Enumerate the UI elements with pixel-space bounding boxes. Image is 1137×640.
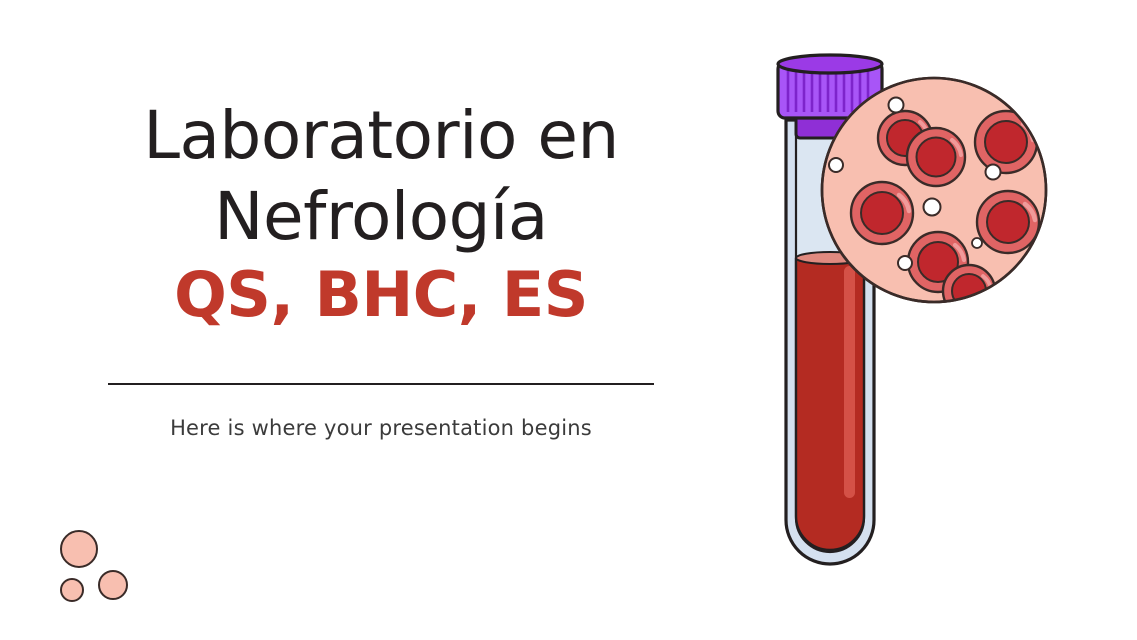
- platelet: [829, 158, 843, 172]
- red-blood-cell: [977, 191, 1039, 253]
- title-block: Laboratorio en Nefrología QS, BHC, ES: [108, 96, 654, 333]
- platelet: [924, 199, 941, 216]
- red-blood-cell: [943, 265, 995, 317]
- platelet: [1053, 192, 1065, 204]
- subtitle-text: Here is where your presentation begins: [108, 416, 654, 440]
- platelet: [986, 165, 1001, 180]
- deco-dot-large: [60, 530, 98, 568]
- platelet: [972, 238, 982, 248]
- tube-cap-top: [778, 55, 882, 73]
- page-title-line-1: Laboratorio en: [108, 96, 654, 177]
- platelet: [898, 256, 912, 270]
- page-title-accent: QS, BHC, ES: [108, 257, 654, 333]
- page-title-line-2: Nefrología: [108, 177, 654, 258]
- lab-artwork: [740, 50, 1100, 620]
- title-divider: [108, 383, 654, 385]
- red-blood-cell: [851, 182, 913, 244]
- platelet: [889, 98, 904, 113]
- platelet: [1038, 286, 1050, 298]
- red-blood-cell: [907, 128, 965, 186]
- deco-dot-medium: [98, 570, 128, 600]
- slide-canvas: Laboratorio en Nefrología QS, BHC, ES He…: [0, 0, 1137, 640]
- deco-dot-small: [60, 578, 84, 602]
- red-blood-cell: [975, 111, 1037, 173]
- tube-blood-highlight: [844, 266, 855, 498]
